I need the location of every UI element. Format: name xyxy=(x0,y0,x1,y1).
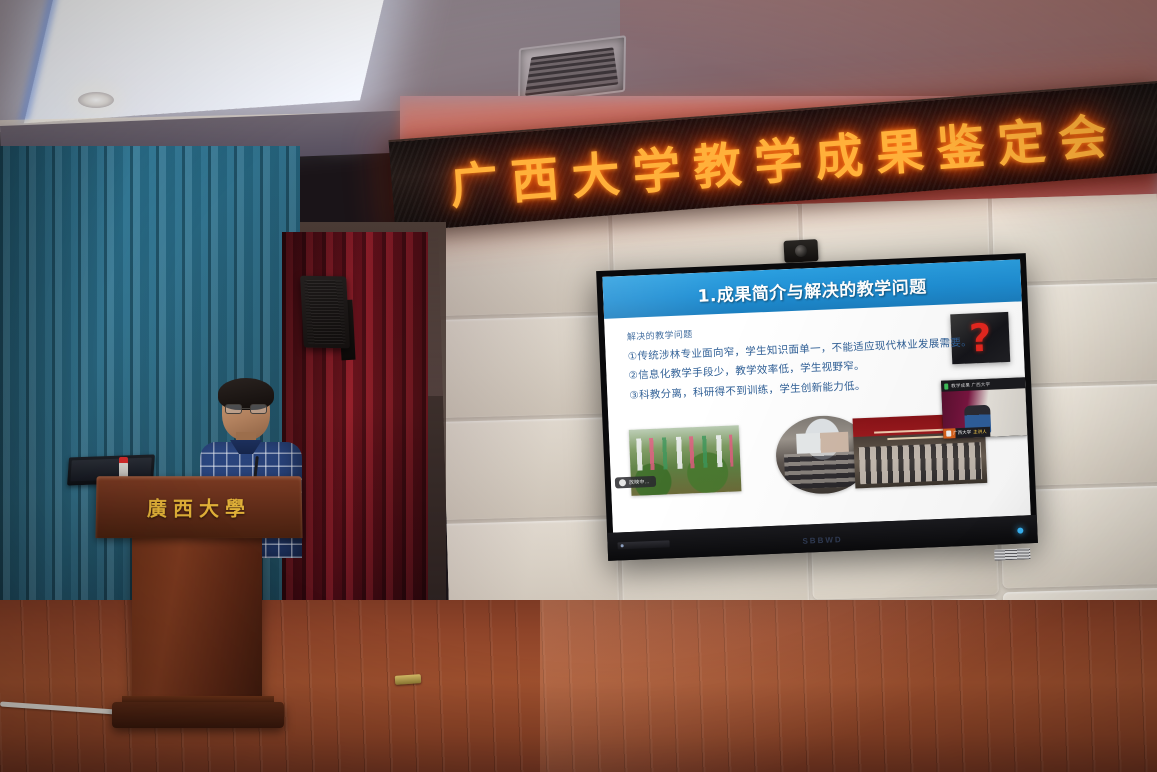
participant-tag: 主讲人 xyxy=(973,429,987,436)
eyeglasses-icon xyxy=(225,404,267,414)
slide-body: 解决的教学问题 ①传统涉林专业面向窄，学生知识面单一，不能适应现代林业发展需要。… xyxy=(627,317,936,406)
display-power-led-icon xyxy=(1017,527,1023,533)
video-call-pip[interactable]: 教学成果 广西大学 广西大学 主讲人 xyxy=(941,377,1027,438)
podium-plinth xyxy=(112,702,284,728)
video-call-title: 教学成果 广西大学 xyxy=(951,381,990,389)
powerpoint-slide[interactable]: 1.成果简介与解决的教学问题 ? 解决的教学问题 ①传统涉林专业面向窄，学生知识… xyxy=(602,259,1030,532)
display-spec-label xyxy=(994,548,1030,560)
display-control-strip[interactable] xyxy=(617,540,669,549)
slide-title-bar: 1.成果简介与解决的教学问题 xyxy=(602,259,1021,318)
slideshow-tooltip[interactable]: 放映中… xyxy=(615,476,656,489)
video-active-icon xyxy=(944,383,948,389)
podium-front-panel: 廣西大學 xyxy=(95,476,302,538)
wall-loudspeaker-icon xyxy=(300,276,350,349)
presentation-display[interactable]: 1.成果简介与解决的教学问题 ? 解决的教学问题 ①传统涉林专业面向窄，学生知识… xyxy=(596,253,1038,561)
tooltip-dot-icon xyxy=(619,479,626,486)
video-call-feed: 广西大学 主讲人 xyxy=(941,388,1027,438)
podium-nameplate: 廣西大學 xyxy=(147,493,251,522)
display-screen-area[interactable]: 1.成果简介与解决的教学问题 ? 解决的教学问题 ①传统涉林专业面向窄，学生知识… xyxy=(602,259,1030,532)
podium-column xyxy=(132,534,262,710)
participant-name: 广西大学 xyxy=(953,430,971,437)
slide-title: 1.成果简介与解决的教学问题 xyxy=(697,272,927,307)
display-brand-mark: SBBWD xyxy=(802,535,843,546)
conference-room-photo: 广西大学教学成果鉴定会 1.成果简介与解决的教学问题 ? 解决的教学问题 xyxy=(0,0,1157,772)
recessed-downlight-icon xyxy=(78,92,114,108)
video-call-name-bar: 广西大学 主讲人 xyxy=(943,427,990,439)
podium: 廣西大學 xyxy=(96,476,302,762)
ceiling-camera-icon xyxy=(783,239,818,263)
floor-power-socket-icon xyxy=(395,674,422,685)
tooltip-label: 放映中… xyxy=(629,478,650,486)
participant-icon xyxy=(946,430,951,436)
